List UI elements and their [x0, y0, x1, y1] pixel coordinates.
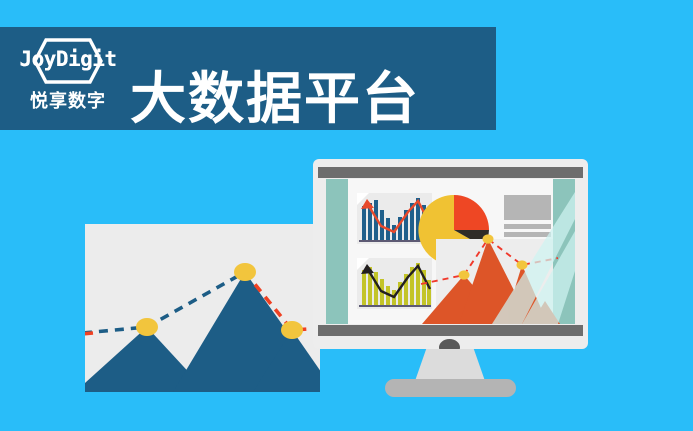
page-title: 大数据平台 [130, 71, 420, 127]
logo-subtitle: 悦享数字 [14, 87, 122, 113]
logo-wordmark: JoyDigit [14, 47, 122, 71]
desktop-monitor [313, 159, 588, 349]
monitor-bottom-bar [318, 325, 583, 336]
widget-line [504, 232, 551, 237]
widget-header-block [504, 195, 551, 220]
poster-canvas: JoyDigit 悦享数字 大数据平台 [0, 0, 693, 431]
data-point-marker[interactable] [483, 234, 494, 243]
monitor-top-bar [318, 167, 583, 178]
brand-logo: JoyDigit 悦享数字 [14, 35, 122, 123]
left-chart-panel [85, 224, 320, 392]
monitor-stand-base [385, 379, 516, 397]
widget-line [504, 224, 551, 229]
monitor-screen [326, 179, 575, 324]
mountain-area-chart [85, 224, 320, 392]
data-point-marker[interactable] [517, 260, 528, 269]
monitor-stand-neck [415, 349, 485, 381]
data-point-marker[interactable] [136, 318, 158, 336]
data-point-marker[interactable] [281, 321, 303, 339]
data-point-marker[interactable] [459, 270, 470, 279]
mini-chart-card-olive[interactable] [357, 258, 432, 309]
data-point-marker[interactable] [234, 263, 256, 281]
dashboard-content [326, 179, 575, 324]
trend-line-stub [85, 333, 93, 334]
header-banner: JoyDigit 悦享数字 大数据平台 [0, 27, 496, 130]
